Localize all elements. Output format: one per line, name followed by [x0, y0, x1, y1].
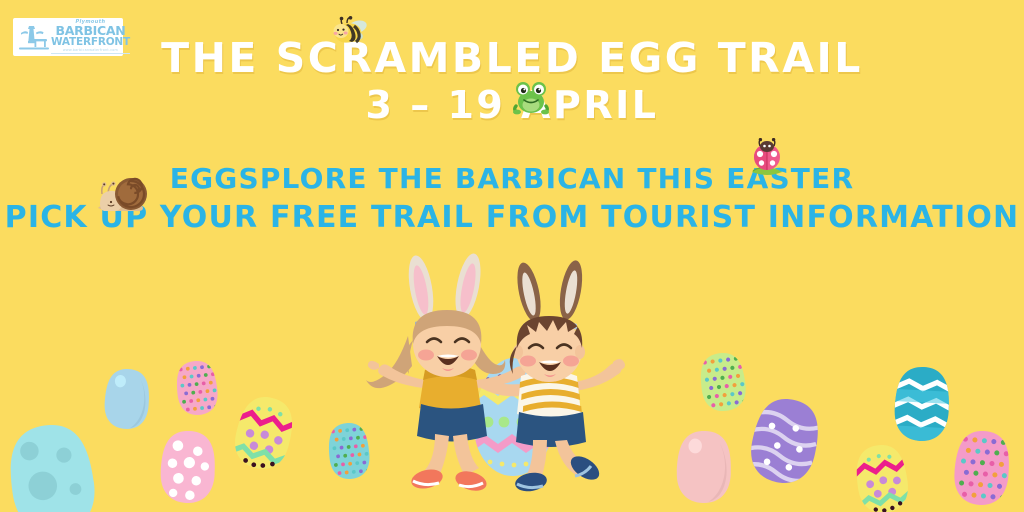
egg-yellow-zigzag2 [851, 441, 912, 512]
egg-teal-spotted [3, 419, 101, 512]
egg-teal-chevron [892, 365, 952, 444]
bee-icon [330, 16, 370, 52]
easter-trail-poster: Plymouth BARBICAN WATERFRONT www.barbica… [0, 0, 1024, 512]
snail-icon [94, 174, 152, 214]
subtitle-block: EGGSPLORE THE BARBICAN THIS EASTER PICK … [0, 163, 1024, 236]
girl-character [366, 252, 525, 494]
egg-pink-dotted [173, 358, 221, 418]
children-illustration [363, 252, 663, 497]
egg-pink-plain [675, 429, 734, 505]
egg-pink-speckled [951, 428, 1013, 509]
egg-green-dotted [697, 349, 750, 414]
subtitle-line-1: EGGSPLORE THE BARBICAN THIS EASTER [0, 163, 1024, 195]
egg-blue-plain [102, 366, 152, 431]
egg-yellow-zigzag [228, 390, 300, 475]
ladybug-icon [746, 138, 788, 178]
headline-title: THE SCRAMBLED EGG TRAIL [0, 38, 1024, 80]
frog-icon [512, 78, 550, 116]
egg-purple-wave [744, 392, 826, 490]
subtitle-line-2: PICK UP YOUR FREE TRAIL FROM TOURIST INF… [0, 201, 1024, 236]
egg-pink-polka [158, 429, 218, 506]
